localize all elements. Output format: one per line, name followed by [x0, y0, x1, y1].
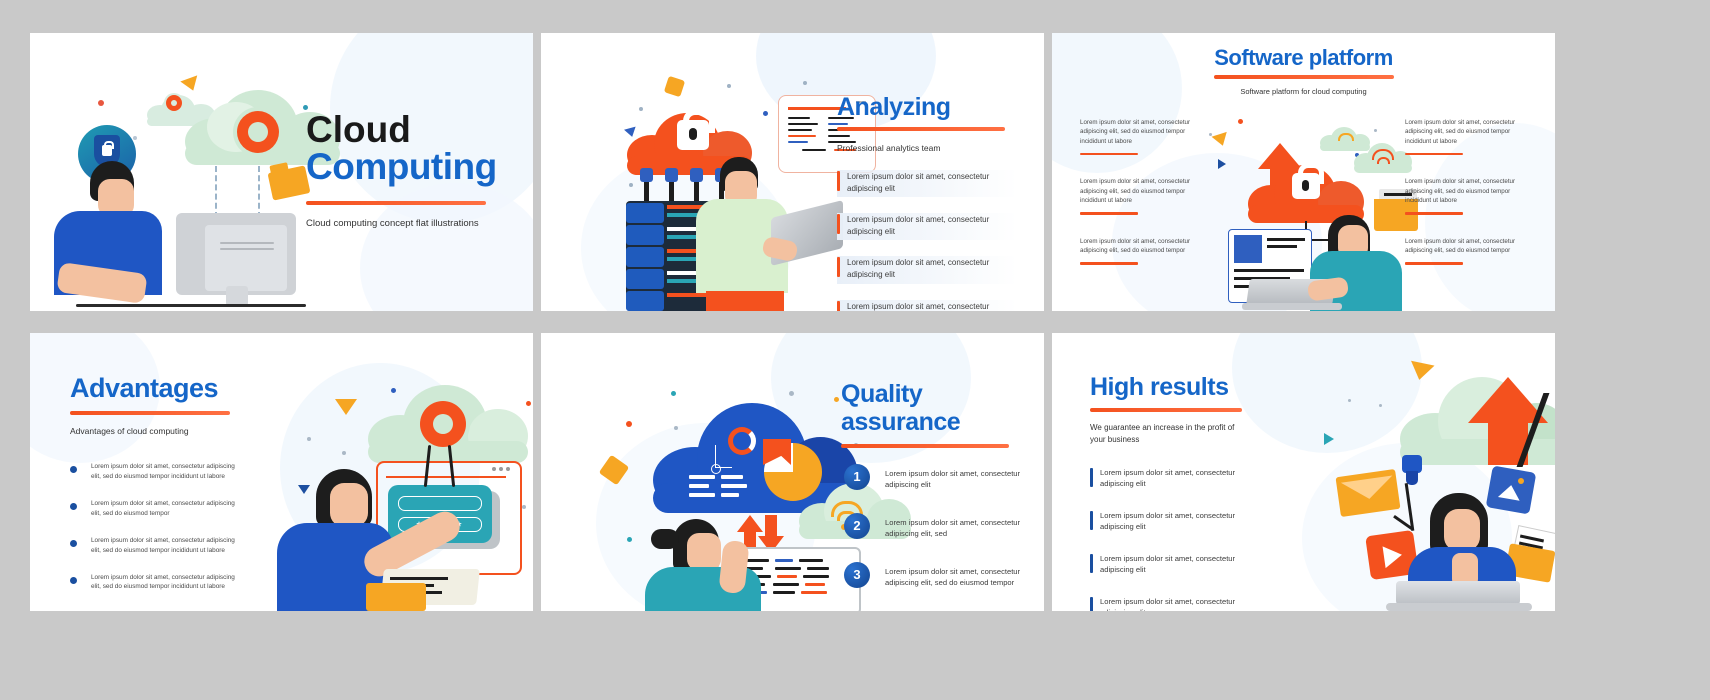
- list-item-text: Lorem ipsum dolor sit amet, consectetur …: [91, 500, 235, 517]
- page-title: High results: [1090, 375, 1250, 400]
- list-item[interactable]: Lorem ipsum dolor sit amet, consectetur …: [1090, 510, 1250, 532]
- list-item[interactable]: Lorem ipsum dolor sit amet, consectetur …: [70, 573, 245, 593]
- list-number-badge: 1: [844, 464, 870, 490]
- subtitle: We guarantee an increase in the profit o…: [1090, 422, 1250, 445]
- monitor: [176, 213, 296, 295]
- bullet-bar-icon: [1090, 468, 1093, 487]
- text-underline: [1405, 262, 1463, 265]
- title-underline: [841, 444, 1009, 448]
- slide-analyzing[interactable]: Analyzing Professional analytics team Lo…: [541, 33, 1044, 311]
- subtitle: Software platform for cloud computing: [1052, 87, 1555, 96]
- list-item[interactable]: Lorem ipsum dolor sit amet, consectetur …: [70, 499, 245, 519]
- list-item[interactable]: Lorem ipsum dolor sit amet, consectetur …: [837, 170, 1017, 197]
- list-item-text: Lorem ipsum dolor sit amet, consectetur …: [1100, 511, 1235, 531]
- list-item[interactable]: Lorem ipsum dolor sit amet, consectetur …: [837, 300, 1017, 311]
- bullet-list: Lorem ipsum dolor sit amet, consectetur …: [70, 462, 245, 592]
- subtitle: Cloud computing concept flat illustratio…: [306, 218, 521, 229]
- page-title-line1: Quality: [841, 380, 1026, 408]
- title-underline: [837, 127, 1005, 131]
- list-item-text: Lorem ipsum dolor sit amet, consectetur …: [91, 463, 235, 480]
- shield-lock-icon: [78, 125, 136, 183]
- text-block-body: Lorem ipsum dolor sit amet, consectetur …: [1405, 119, 1515, 145]
- bullet-bar-icon: [837, 301, 840, 311]
- text-block[interactable]: Lorem ipsum dolor sit amet, consectetur …: [1080, 237, 1208, 265]
- list-item[interactable]: Lorem ipsum dolor sit amet, consectetur …: [1090, 553, 1250, 575]
- left-text-column: Lorem ipsum dolor sit amet, consectetur …: [1080, 118, 1208, 274]
- slide-text-column: Advantages Advantages of cloud computing…: [70, 375, 245, 609]
- title-underline: [1090, 408, 1242, 412]
- text-underline: [1405, 153, 1463, 156]
- list-item[interactable]: Lorem ipsum dolor sit amet, consectetur …: [837, 256, 1017, 283]
- wifi-icon: [1338, 133, 1354, 141]
- text-underline: [1080, 212, 1138, 215]
- list-item-text: Lorem ipsum dolor sit amet, consectetur …: [91, 537, 235, 554]
- text-block[interactable]: Lorem ipsum dolor sit amet, consectetur …: [1405, 118, 1533, 155]
- text-block[interactable]: Lorem ipsum dolor sit amet, consectetur …: [1405, 237, 1533, 265]
- text-block-body: Lorem ipsum dolor sit amet, consectetur …: [1405, 178, 1515, 204]
- gear-icon: [237, 111, 279, 153]
- text-underline: [1405, 212, 1463, 215]
- page-title-line1: Cloud: [306, 111, 521, 148]
- bullet-bar-icon: [1090, 511, 1093, 530]
- list-item[interactable]: 3Lorem ipsum dolor sit amet, consectetur…: [841, 566, 1026, 589]
- list-item-text: Lorem ipsum dolor sit amet, consectetur …: [885, 567, 1020, 587]
- person-torso: [54, 211, 162, 295]
- subtitle: Professional analytics team: [837, 143, 1017, 153]
- text-block-body: Lorem ipsum dolor sit amet, consectetur …: [1080, 238, 1190, 254]
- slide-advantages[interactable]: Advantages Advantages of cloud computing…: [30, 333, 533, 611]
- title-underline: [70, 411, 230, 415]
- list-item-text: Lorem ipsum dolor sit amet, consectetur …: [847, 172, 989, 193]
- list-item[interactable]: Lorem ipsum dolor sit amet, consectetur …: [70, 462, 245, 482]
- list-item-text: Lorem ipsum dolor sit amet, consectetur …: [847, 258, 989, 279]
- list-item-text: Lorem ipsum dolor sit amet, consectetur …: [1100, 468, 1235, 488]
- text-block[interactable]: Lorem ipsum dolor sit amet, consectetur …: [1080, 118, 1208, 155]
- bullet-list: Lorem ipsum dolor sit amet, consectetur …: [837, 170, 1017, 311]
- bullet-bar-icon: [837, 171, 840, 191]
- right-text-column: Lorem ipsum dolor sit amet, consectetur …: [1405, 118, 1533, 274]
- slide-cloud-computing[interactable]: Cloud Computing Cloud computing concept …: [30, 33, 533, 311]
- slide-text-column: Analyzing Professional analytics team Lo…: [837, 95, 1017, 311]
- lock-icon: [677, 120, 709, 150]
- bullet-list: Lorem ipsum dolor sit amet, consectetur …: [1090, 467, 1250, 611]
- list-item[interactable]: Lorem ipsum dolor sit amet, consectetur …: [1090, 467, 1250, 489]
- bullet-dot-icon: [70, 540, 77, 547]
- list-number-badge: 2: [844, 513, 870, 539]
- presentation-slide-deck: Cloud Computing Cloud computing concept …: [0, 0, 1710, 700]
- bullet-bar-icon: [837, 214, 840, 234]
- bullet-dot-icon: [70, 577, 77, 584]
- list-item[interactable]: 2Lorem ipsum dolor sit amet, consectetur…: [841, 517, 1026, 540]
- list-item-text: Lorem ipsum dolor sit amet, consectetur …: [885, 518, 1020, 538]
- person-torso: [1310, 251, 1402, 311]
- list-item-text: Lorem ipsum dolor sit amet, consectetur …: [847, 302, 989, 311]
- title-underline: [306, 201, 486, 205]
- title-underline: [1214, 75, 1394, 79]
- list-item-text: Lorem ipsum dolor sit amet, consectetur …: [847, 215, 989, 236]
- text-underline: [1080, 262, 1138, 265]
- text-block-body: Lorem ipsum dolor sit amet, consectetur …: [1080, 178, 1190, 204]
- slide-text-column: High results We guarantee an increase in…: [1090, 375, 1250, 611]
- list-item[interactable]: Lorem ipsum dolor sit amet, consectetur …: [1090, 596, 1250, 611]
- slide-text-column: Quality assurance 1Lorem ipsum dolor sit…: [841, 380, 1026, 611]
- text-block[interactable]: Lorem ipsum dolor sit amet, consectetur …: [1405, 177, 1533, 214]
- list-item[interactable]: 1Lorem ipsum dolor sit amet, consectetur…: [841, 468, 1026, 491]
- page-title: Software platform: [1052, 47, 1555, 69]
- person-hair: [90, 161, 134, 201]
- list-item[interactable]: Lorem ipsum dolor sit amet, consectetur …: [70, 536, 245, 556]
- laptop: [380, 569, 480, 605]
- text-block-body: Lorem ipsum dolor sit amet, consectetur …: [1405, 238, 1515, 254]
- list-item-text: Lorem ipsum dolor sit amet, consectetur …: [1100, 597, 1235, 611]
- slide-header: Software platform Software platform for …: [1052, 47, 1555, 96]
- bullet-bar-icon: [1090, 597, 1093, 611]
- bullet-bar-icon: [1090, 554, 1093, 573]
- text-block[interactable]: Lorem ipsum dolor sit amet, consectetur …: [1080, 177, 1208, 214]
- text-block-body: Lorem ipsum dolor sit amet, consectetur …: [1080, 119, 1190, 145]
- slide-high-results[interactable]: High results We guarantee an increase in…: [1052, 333, 1555, 611]
- subtitle: Advantages of cloud computing: [70, 426, 245, 436]
- slide-quality-assurance[interactable]: Quality assurance 1Lorem ipsum dolor sit…: [541, 333, 1044, 611]
- page-title-line2: assurance: [841, 408, 1026, 436]
- slide-text-column: Cloud Computing Cloud computing concept …: [306, 111, 521, 229]
- bullet-dot-icon: [70, 466, 77, 473]
- bullet-bar-icon: [837, 257, 840, 277]
- slide-software-platform[interactable]: Software platform Software platform for …: [1052, 33, 1555, 311]
- list-item-text: Lorem ipsum dolor sit amet, consectetur …: [885, 469, 1020, 489]
- list-number-badge: 3: [844, 562, 870, 588]
- folder-icon: [1505, 543, 1555, 583]
- bullet-dot-icon: [70, 503, 77, 510]
- folder-icon: [366, 583, 426, 611]
- page-title: Advantages: [70, 375, 245, 402]
- wifi-icon: [1372, 149, 1394, 160]
- page-title-line2: Computing: [306, 148, 521, 185]
- list-item[interactable]: Lorem ipsum dolor sit amet, consectetur …: [837, 213, 1017, 240]
- numbered-list: 1Lorem ipsum dolor sit amet, consectetur…: [841, 468, 1026, 588]
- page-title: Analyzing: [837, 95, 1017, 120]
- text-underline: [1080, 153, 1138, 156]
- list-item-text: Lorem ipsum dolor sit amet, consectetur …: [1100, 554, 1235, 574]
- folder-icon: [268, 165, 311, 200]
- list-item-text: Lorem ipsum dolor sit amet, consectetur …: [91, 574, 235, 591]
